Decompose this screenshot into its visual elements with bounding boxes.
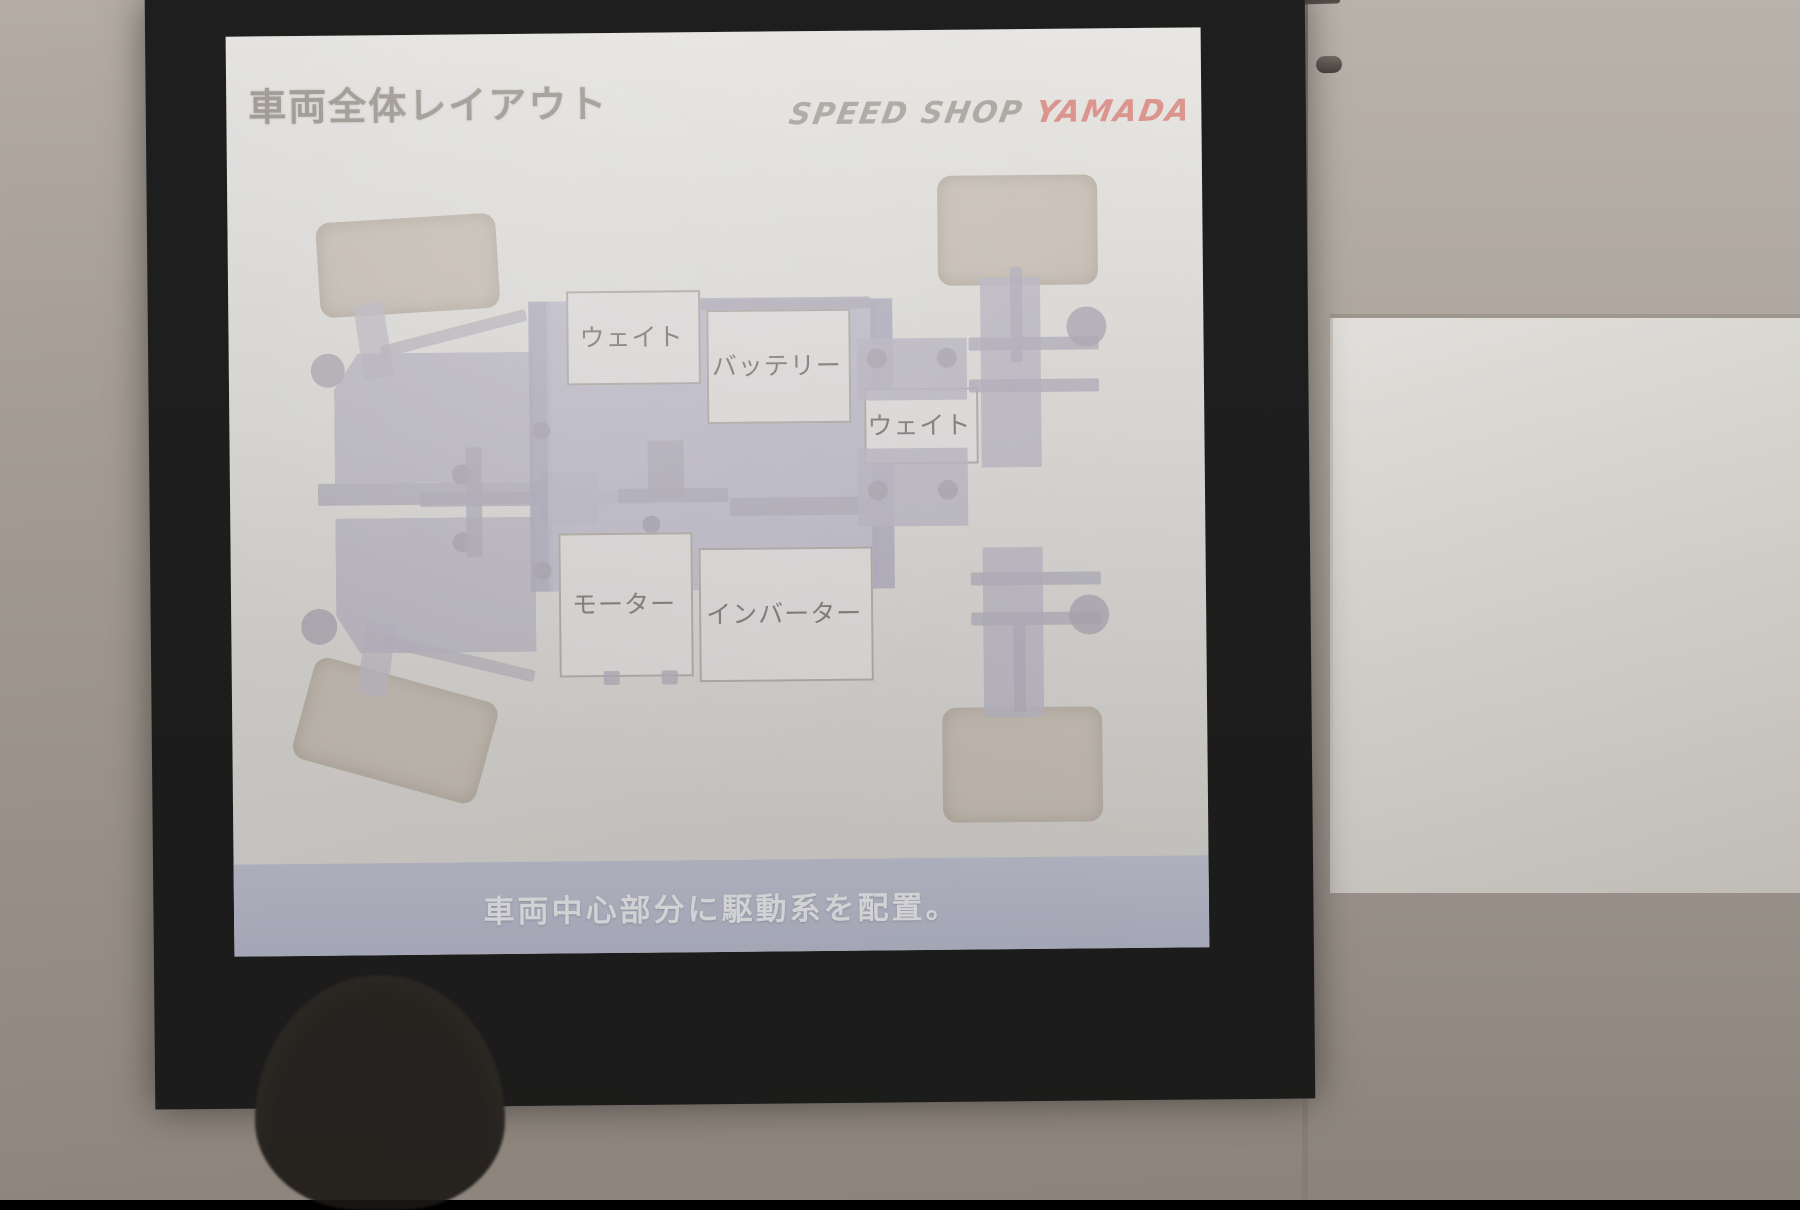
brand-primary-text: SPEED SHOP xyxy=(787,95,1027,132)
hub-bolt-front-left xyxy=(311,354,345,388)
front-subframe-lower xyxy=(335,517,536,654)
brand-logo: SPEED SHOP YAMADA xyxy=(787,93,1195,132)
tire-front-right xyxy=(290,655,501,807)
rear-damper-upper xyxy=(1010,267,1023,362)
rear-arm-lower-1 xyxy=(971,571,1101,585)
caption-text: 車両中心部分に駆動系を配置。 xyxy=(483,881,959,931)
tire-front-left xyxy=(315,212,501,318)
weight-front-label: ウェイト xyxy=(566,290,697,381)
slab-bolt-left-lower xyxy=(534,562,552,580)
rear-damper-lower xyxy=(1013,617,1026,712)
rear-arm-upper-2 xyxy=(969,378,1099,392)
hub-bolt-front-right xyxy=(301,609,337,645)
rear-hub-bolt-lower xyxy=(1069,594,1109,634)
rear-mount-plate-upper xyxy=(857,338,968,401)
inverter-label: インバーター xyxy=(699,547,870,679)
motor-label: モーター xyxy=(558,532,689,673)
caption-band: 車両中心部分に駆動系を配置。 xyxy=(234,855,1210,956)
screen-roller-knob[interactable] xyxy=(1316,56,1343,74)
front-subframe-upper xyxy=(334,352,535,484)
brand-secondary-text: YAMADA xyxy=(1033,93,1194,130)
slab-bolt-left-upper xyxy=(532,422,550,440)
rear-mount-bolt-2 xyxy=(937,348,957,368)
rear-hub-bolt-upper xyxy=(1066,306,1106,346)
rear-mount-bolt-3 xyxy=(868,480,888,500)
motor-foot-left xyxy=(604,671,620,685)
battery-label: バッテリー xyxy=(706,309,847,420)
front-tower-strut xyxy=(466,447,483,557)
room-background: 車両全体レイアウト SPEED SHOP YAMADA xyxy=(0,0,1800,1200)
presentation-slide: 車両全体レイアウト SPEED SHOP YAMADA xyxy=(226,27,1210,956)
motor-foot-right xyxy=(662,670,678,684)
rear-mount-bolt-1 xyxy=(867,348,887,368)
page-title: 車両全体レイアウト xyxy=(248,73,609,131)
rear-mount-bolt-4 xyxy=(938,480,958,500)
chassis-diagram: ウェイト バッテリー ウェイト モーター インバーター xyxy=(227,145,1209,864)
whiteboard xyxy=(1330,318,1800,893)
tire-rear-right xyxy=(942,706,1103,823)
slab-port-hole xyxy=(642,516,660,534)
motor-mount-bracket xyxy=(618,488,728,503)
control-arm-front-upper xyxy=(379,309,527,358)
